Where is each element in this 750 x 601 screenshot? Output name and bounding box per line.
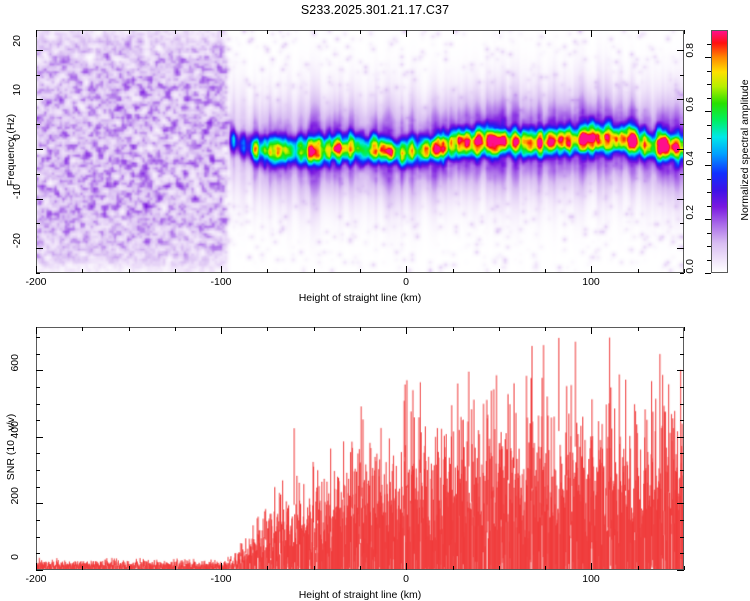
x-tick-minor-top (175, 327, 176, 331)
x-tick-minor (360, 566, 361, 570)
y-tick-major-right (677, 149, 684, 150)
x-tick-major (591, 266, 592, 273)
x-tick-minor-top (453, 30, 454, 34)
spectrogram-yaxis-label: Frequency (Hz) (5, 75, 17, 225)
x-tick-minor-top (499, 30, 500, 34)
x-tick-minor (638, 269, 639, 273)
x-tick-minor-top (638, 30, 639, 34)
y-tick-minor-right (680, 420, 684, 421)
colorbar-tick (705, 57, 711, 58)
x-tick-major-top (221, 327, 222, 334)
x-tick-major-top (406, 30, 407, 37)
colorbar-label: Normalized spectral amplitude (739, 70, 750, 230)
y-tick-major (36, 570, 43, 571)
y-tick-minor (36, 520, 40, 521)
x-tick-minor-top (360, 30, 361, 34)
spectrogram-canvas (37, 31, 683, 272)
y-tick-major-right (677, 570, 684, 571)
x-tick-minor-top (82, 30, 83, 34)
y-tick-major (36, 503, 43, 504)
y-tick-minor (36, 420, 40, 421)
y-tick-major-right (677, 99, 684, 100)
y-tick-minor (36, 470, 40, 471)
x-tick-minor (314, 566, 315, 570)
colorbar-tick-minor (707, 138, 711, 139)
x-tick-label: -200 (16, 276, 56, 288)
x-tick-minor (360, 269, 361, 273)
x-tick-minor (175, 566, 176, 570)
x-tick-label: 100 (571, 573, 611, 585)
y-tick-major (36, 199, 43, 200)
x-tick-major (221, 563, 222, 570)
colorbar-tick-label: 0.2 (684, 205, 696, 231)
x-tick-minor-top (638, 327, 639, 331)
x-tick-minor (82, 269, 83, 273)
y-tick-minor (36, 124, 40, 125)
snr-yaxis-label: SNR (10 · v/v) (5, 372, 17, 522)
x-tick-major-top (591, 327, 592, 334)
x-tick-minor-top (684, 327, 685, 331)
x-tick-minor-top (129, 327, 130, 331)
snr-xaxis-label: Height of straight line (km) (250, 589, 470, 601)
colorbar-tick-label: 0.8 (684, 43, 696, 69)
y-tick-minor (36, 453, 40, 454)
x-tick-minor-top (82, 327, 83, 331)
colorbar-tick-minor (707, 246, 711, 247)
y-tick-minor-right (680, 470, 684, 471)
colorbar-tick-minor (707, 98, 711, 99)
y-tick-major-right (677, 503, 684, 504)
x-tick-minor-top (267, 327, 268, 331)
y-tick-major (36, 50, 43, 51)
y-tick-minor (36, 537, 40, 538)
y-tick-minor-right (680, 387, 684, 388)
x-tick-major (221, 266, 222, 273)
y-tick-minor (36, 487, 40, 488)
x-tick-minor (129, 566, 130, 570)
x-tick-minor-top (314, 327, 315, 331)
x-tick-minor (684, 566, 685, 570)
x-tick-minor (175, 269, 176, 273)
x-tick-minor (129, 269, 130, 273)
y-tick-minor-right (680, 553, 684, 554)
x-tick-minor-top (684, 30, 685, 34)
y-tick-label: -20 (11, 233, 23, 261)
x-tick-major (591, 563, 592, 570)
x-tick-minor (267, 566, 268, 570)
y-tick-minor (36, 387, 40, 388)
colorbar-tick-minor (707, 179, 711, 180)
colorbar-tick-label: 0.0 (684, 259, 696, 285)
page-title: S233.2025.301.21.17.C37 (0, 3, 750, 17)
colorbar-tick-minor (707, 192, 711, 193)
x-tick-minor-top (545, 30, 546, 34)
y-tick-minor-right (680, 487, 684, 488)
colorbar-tick-minor (707, 71, 711, 72)
y-tick-minor (36, 404, 40, 405)
y-tick-minor (36, 75, 40, 76)
y-tick-minor (36, 273, 40, 274)
colorbar-tick-minor (707, 84, 711, 85)
x-tick-minor (545, 269, 546, 273)
colorbar-tick-label: 0.6 (684, 97, 696, 123)
snr-canvas (37, 328, 683, 569)
y-tick-major-right (677, 437, 684, 438)
x-tick-label: 0 (386, 573, 426, 585)
snr-plot-area (36, 327, 684, 570)
x-tick-major (406, 266, 407, 273)
y-tick-minor-right (680, 537, 684, 538)
x-tick-major-top (36, 327, 37, 334)
x-tick-major (36, 266, 37, 273)
colorbar-tick-label: 0.4 (684, 151, 696, 177)
x-tick-major-top (406, 327, 407, 334)
x-tick-minor (453, 269, 454, 273)
colorbar-tick-minor (707, 152, 711, 153)
x-tick-minor-top (545, 327, 546, 331)
x-tick-major (406, 563, 407, 570)
y-tick-minor-right (680, 520, 684, 521)
y-tick-major-right (677, 199, 684, 200)
y-tick-major (36, 149, 43, 150)
x-tick-minor (545, 566, 546, 570)
y-tick-minor-right (680, 75, 684, 76)
y-tick-major (36, 437, 43, 438)
x-tick-major-top (221, 30, 222, 37)
colorbar (711, 30, 728, 273)
y-tick-major-right (677, 248, 684, 249)
y-tick-minor (36, 354, 40, 355)
x-tick-minor-top (129, 30, 130, 34)
y-tick-minor-right (680, 453, 684, 454)
x-tick-label: -100 (201, 276, 241, 288)
colorbar-tick-minor (707, 125, 711, 126)
y-tick-label: 0 (9, 554, 21, 584)
x-tick-label: 100 (571, 276, 611, 288)
spectrogram-xaxis-label: Height of straight line (km) (250, 292, 470, 304)
y-tick-minor (36, 553, 40, 554)
x-tick-major (36, 563, 37, 570)
colorbar-tick (705, 219, 711, 220)
y-tick-major-right (677, 370, 684, 371)
x-tick-label: 0 (386, 276, 426, 288)
colorbar-tick-minor (707, 206, 711, 207)
colorbar-tick (705, 273, 711, 274)
x-tick-minor-top (314, 30, 315, 34)
x-tick-label: -200 (16, 573, 56, 585)
x-tick-minor (499, 269, 500, 273)
y-tick-minor-right (680, 404, 684, 405)
y-tick-major (36, 370, 43, 371)
colorbar-tick (705, 111, 711, 112)
colorbar-tick (705, 165, 711, 166)
y-tick-major-right (677, 50, 684, 51)
x-tick-minor-top (499, 327, 500, 331)
x-tick-label: -100 (201, 573, 241, 585)
x-tick-minor-top (360, 327, 361, 331)
y-tick-minor (36, 337, 40, 338)
y-tick-label: 20 (11, 35, 23, 63)
colorbar-tick-minor (707, 44, 711, 45)
x-tick-minor-top (267, 30, 268, 34)
y-tick-minor-right (680, 124, 684, 125)
y-tick-minor (36, 223, 40, 224)
figure-root: S233.2025.301.21.17.C37 -200-1000100-20-… (0, 0, 750, 600)
y-tick-major (36, 248, 43, 249)
x-tick-minor-top (175, 30, 176, 34)
y-tick-major (36, 99, 43, 100)
x-tick-minor (499, 566, 500, 570)
x-tick-minor (267, 269, 268, 273)
x-tick-minor (314, 269, 315, 273)
x-tick-major-top (36, 30, 37, 37)
x-tick-minor-top (453, 327, 454, 331)
x-tick-minor (82, 566, 83, 570)
colorbar-gradient (712, 31, 727, 272)
spectrogram-plot-area (36, 30, 684, 273)
x-tick-minor (638, 566, 639, 570)
colorbar-tick-minor (707, 260, 711, 261)
y-tick-minor (36, 174, 40, 175)
colorbar-tick-minor (707, 233, 711, 234)
x-tick-major-top (591, 30, 592, 37)
x-tick-minor (453, 566, 454, 570)
y-tick-minor-right (680, 354, 684, 355)
y-tick-minor-right (680, 337, 684, 338)
